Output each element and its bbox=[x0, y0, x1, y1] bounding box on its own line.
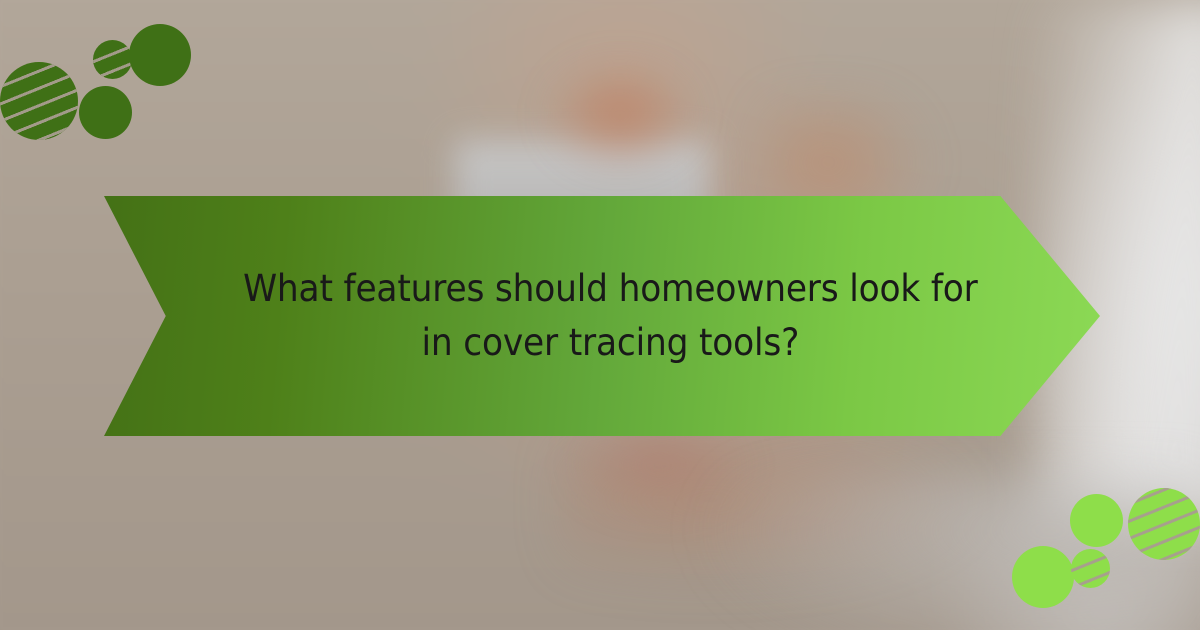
background-hand-left bbox=[545, 60, 695, 170]
circle-large-solid bbox=[1012, 546, 1074, 608]
background-highlight-right bbox=[1035, 0, 1200, 520]
circle-medium-solid bbox=[79, 86, 132, 139]
headline-banner: What features should homeowners look for… bbox=[104, 196, 1100, 436]
circle-small-striped bbox=[1071, 549, 1110, 588]
circle-large-striped bbox=[0, 62, 78, 140]
circle-large-solid bbox=[129, 24, 191, 86]
circle-xl-striped bbox=[1128, 488, 1200, 560]
headline-text: What features should homeowners look for… bbox=[226, 262, 977, 371]
background-highlight-bottom bbox=[700, 470, 1200, 630]
circle-small-striped bbox=[93, 40, 132, 79]
social-card: What features should homeowners look for… bbox=[0, 0, 1200, 630]
circle-medium-solid bbox=[1070, 494, 1123, 547]
